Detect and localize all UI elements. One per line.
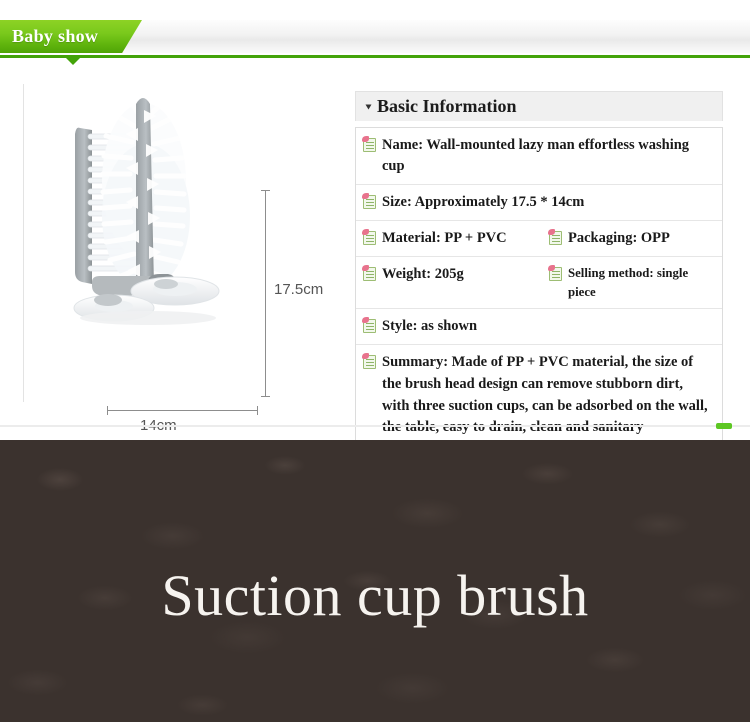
spec-text: Style: as shown bbox=[382, 316, 477, 337]
table-row: Summary: Made of PP + PVC material, the … bbox=[356, 345, 722, 446]
note-icon bbox=[363, 195, 376, 209]
note-icon bbox=[363, 355, 376, 369]
note-icon bbox=[363, 267, 376, 281]
chevron-down-icon bbox=[366, 104, 372, 109]
spec-text: Packaging: OPP bbox=[568, 228, 670, 249]
height-dimension-label: 17.5cm bbox=[274, 281, 323, 298]
note-icon bbox=[549, 267, 562, 281]
table-row: Weight: 205g Selling method: single piec… bbox=[356, 257, 722, 309]
product-image-pane: 17.5cm 14cm bbox=[0, 62, 348, 417]
note-icon bbox=[363, 319, 376, 333]
spec-cell-size: Size: Approximately 17.5 * 14cm bbox=[363, 192, 714, 213]
note-icon bbox=[549, 231, 562, 245]
note-icon bbox=[363, 231, 376, 245]
table-row: Size: Approximately 17.5 * 14cm bbox=[356, 185, 722, 221]
basic-information-header[interactable]: Basic Information bbox=[355, 91, 723, 121]
spec-text: Size: Approximately 17.5 * 14cm bbox=[382, 192, 584, 213]
header-green-rule bbox=[0, 55, 750, 58]
banner-title: Suction cup brush bbox=[0, 562, 750, 629]
left-accent-line bbox=[23, 84, 24, 402]
product-overview-section: 17.5cm 14cm Basic Information Name: Wall… bbox=[0, 62, 750, 422]
header-tab-baby-show[interactable]: Baby show bbox=[0, 20, 142, 53]
hero-banner: Suction cup brush Suction cup installati… bbox=[0, 440, 750, 722]
spec-cell-packaging: Packaging: OPP bbox=[549, 228, 714, 249]
spec-cell-selling-method: Selling method: single piece bbox=[549, 264, 714, 301]
header-tab-label: Baby show bbox=[0, 26, 98, 47]
spec-cell-name: Name: Wall-mounted lazy man effortless w… bbox=[363, 135, 714, 177]
page-header: Baby show bbox=[0, 0, 750, 62]
spec-cell-material: Material: PP + PVC bbox=[363, 228, 549, 249]
table-row: Material: PP + PVC Packaging: OPP bbox=[356, 221, 722, 257]
note-icon bbox=[363, 138, 376, 152]
divider-green-mark bbox=[716, 423, 732, 429]
table-row: Name: Wall-mounted lazy man effortless w… bbox=[356, 128, 722, 185]
product-photo bbox=[48, 86, 258, 376]
height-dimension-line bbox=[265, 190, 266, 396]
width-dimension-line bbox=[107, 410, 257, 411]
table-row: Style: as shown bbox=[356, 309, 722, 345]
spec-cell-style: Style: as shown bbox=[363, 316, 714, 337]
width-dimension-cap-right bbox=[257, 406, 258, 415]
spec-text: Material: PP + PVC bbox=[382, 228, 507, 249]
spec-text: Name: Wall-mounted lazy man effortless w… bbox=[382, 135, 714, 177]
spec-cell-weight: Weight: 205g bbox=[363, 264, 549, 285]
specification-table: Name: Wall-mounted lazy man effortless w… bbox=[355, 127, 723, 447]
basic-information-title: Basic Information bbox=[377, 96, 517, 117]
section-divider bbox=[0, 425, 750, 427]
spec-text: Selling method: single piece bbox=[568, 264, 714, 301]
height-dimension-cap-bottom bbox=[261, 396, 270, 397]
basic-information-panel: Basic Information Name: Wall-mounted laz… bbox=[355, 91, 723, 447]
spec-text: Weight: 205g bbox=[382, 264, 464, 285]
